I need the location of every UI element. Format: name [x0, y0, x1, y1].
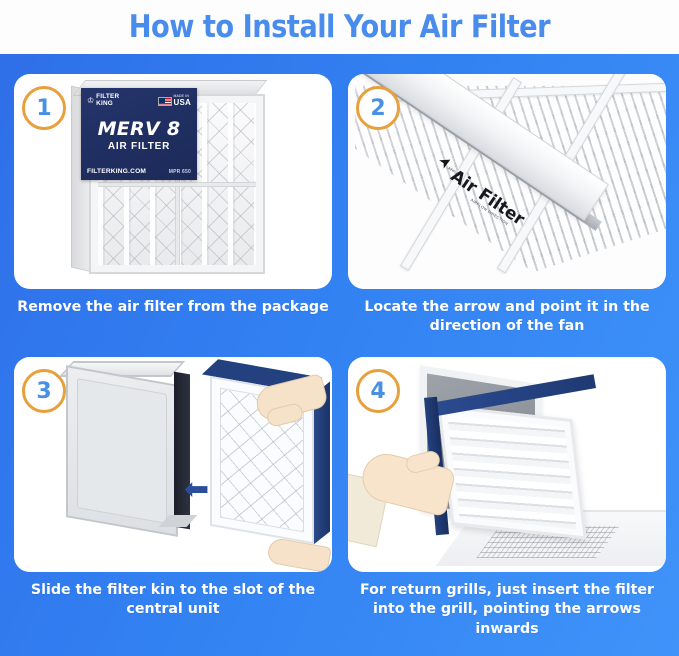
step-2-caption: Locate the arrow and point it in the dir… — [348, 298, 666, 337]
website-text: FILTERKING.COM — [87, 168, 146, 175]
usa-flag-icon — [158, 97, 172, 106]
step-1-badge: 1 — [22, 86, 66, 130]
product-type: AIR FILTER — [87, 141, 191, 152]
filter-product-image: ♔ FILTER KING MADE IN — [71, 80, 267, 276]
central-unit-panel — [77, 378, 167, 524]
brand-line-2: KING — [96, 100, 113, 107]
step-4-image-card: 4 ▲▲ — [348, 357, 666, 572]
label-top-row: ♔ FILTER KING MADE IN — [87, 93, 191, 109]
step-4-badge: 4 — [356, 369, 400, 413]
step-card-2: 2 ➤ AIRFLOW Air Filter AIRFLOW DIRECTION — [348, 74, 666, 337]
step-3-image-card: 3 ▲▲ — [14, 357, 332, 572]
mpr-rating: MPR 650 — [169, 169, 191, 175]
central-unit-body — [66, 365, 178, 537]
step-1-caption: Remove the air filter from the package — [14, 298, 332, 317]
label-bottom-row: FILTERKING.COM MPR 650 — [87, 168, 191, 175]
grille-door — [437, 404, 586, 539]
step-3-caption: Slide the filter kin to the slot of the … — [14, 581, 332, 620]
filter-king-logo: ♔ FILTER KING — [87, 94, 119, 107]
step-2-image-card: 2 ➤ AIRFLOW Air Filter AIRFLOW DIRECTION — [348, 74, 666, 289]
arrow-marker-icon: ▲▲ — [570, 409, 592, 425]
hand-bottom — [266, 537, 332, 572]
filter-horizontal-brace — [98, 182, 256, 187]
steps-grid: 1 — [0, 54, 679, 656]
step-card-1: 1 — [14, 74, 332, 317]
direction-arrow-icon: ⬅ — [184, 475, 209, 505]
page-title: How to Install Your Air Filter — [129, 9, 550, 45]
step-card-4: 4 ▲▲ — [348, 357, 666, 639]
crown-icon: ♔ — [87, 97, 94, 105]
step-3-badge: 3 — [22, 369, 66, 413]
filter-product-label: ♔ FILTER KING MADE IN — [81, 88, 197, 180]
brand-text: FILTER KING — [96, 94, 119, 107]
merv-rating: MERV 8 — [87, 118, 191, 140]
made-in-usa-badge: MADE IN USA — [158, 95, 192, 106]
infographic-page: How to Install Your Air Filter 1 — [0, 0, 679, 656]
step-2-badge: 2 — [356, 86, 400, 130]
step-1-image-card: 1 — [14, 74, 332, 289]
header: How to Install Your Air Filter — [0, 0, 679, 54]
step-4-caption: For return grills, just insert the filte… — [348, 581, 666, 639]
step-card-3: 3 ▲▲ — [14, 357, 332, 620]
arrow-marker-icon: ▲▲ — [270, 357, 296, 365]
country-text: USA — [174, 99, 192, 107]
grille-louvers — [447, 415, 576, 530]
usa-text-group: MADE IN USA — [174, 95, 192, 106]
